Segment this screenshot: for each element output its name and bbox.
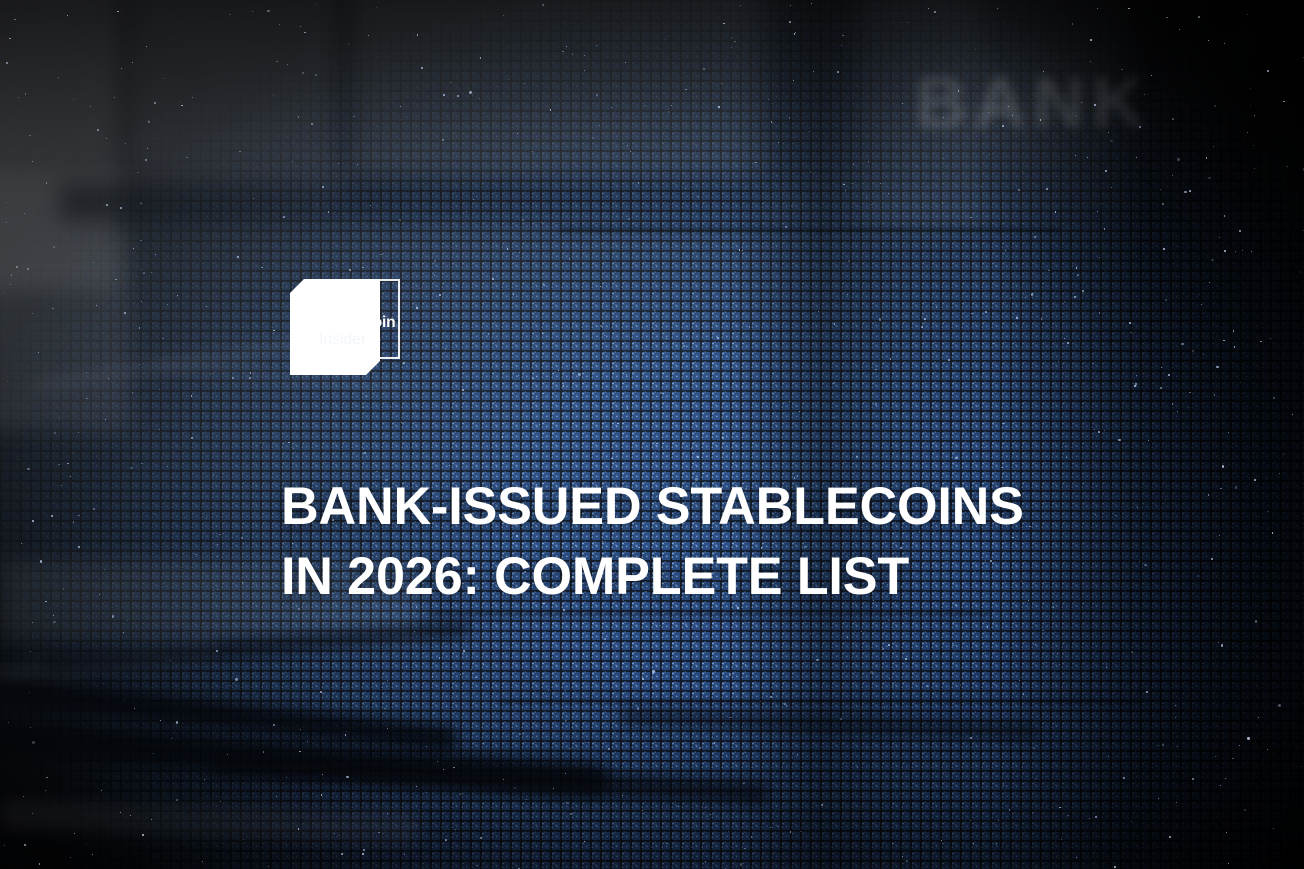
cover-image-stage: BANK Stablecoin Insider BANK-ISSUED STAB… (0, 0, 1304, 869)
logo-wordmark: Stablecoin Insider (319, 315, 405, 348)
page-title: BANK-ISSUED STABLECOINS IN 2026: COMPLET… (281, 472, 1024, 612)
page-title-line1: BANK-ISSUED STABLECOINS (281, 472, 1024, 542)
logo-wordmark-line1: Stablecoin (319, 315, 405, 331)
page-title-line2: IN 2026: COMPLETE LIST (281, 542, 1024, 612)
logo-wordmark-line2: Insider (319, 332, 405, 348)
stablecoin-insider-logo[interactable]: Stablecoin Insider (290, 279, 402, 375)
cover-content: Stablecoin Insider BANK-ISSUED STABLECOI… (0, 0, 1304, 869)
